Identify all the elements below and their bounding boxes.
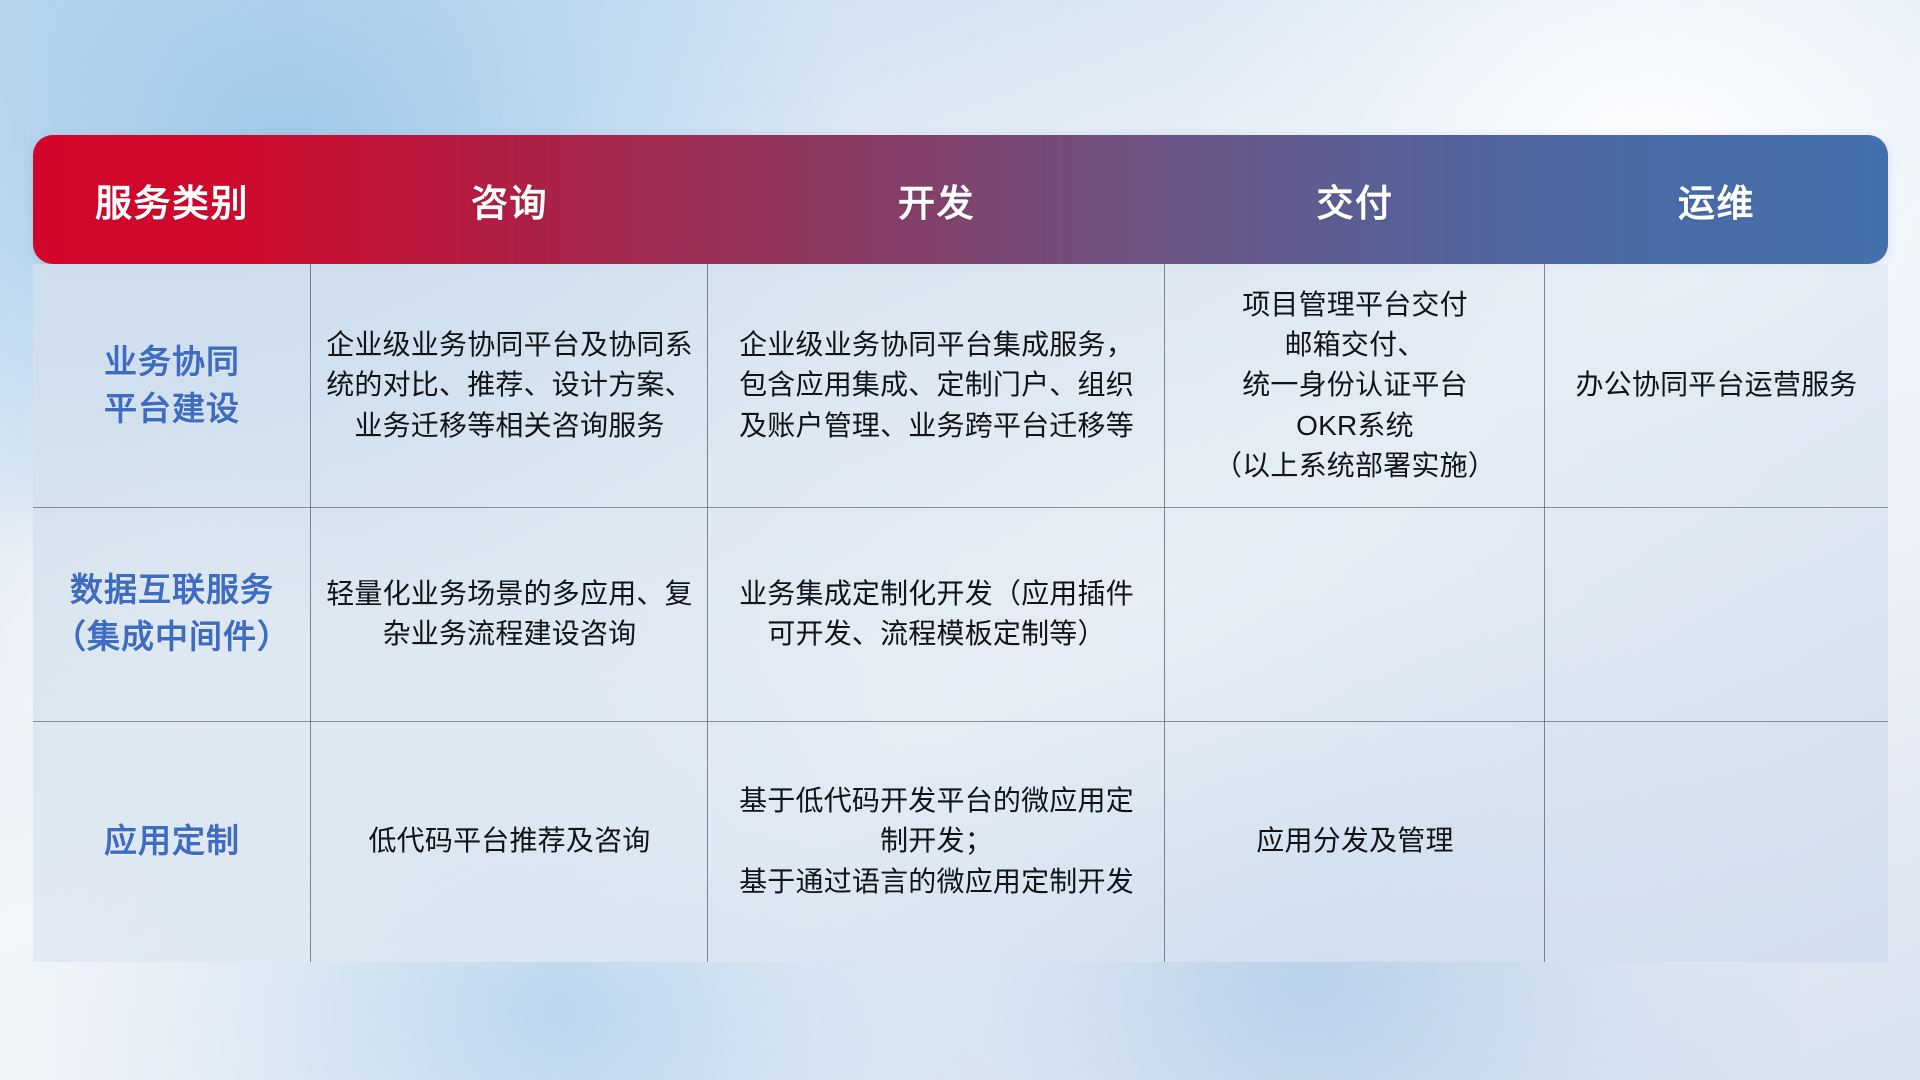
column-header-service-category: 服务类别: [33, 135, 311, 264]
row-category-cell: 数据互联服务 （集成中间件）: [33, 507, 311, 721]
cell-text: 基于低代码开发平台的微应用定 制开发； 基于通过语言的微应用定制开发: [739, 781, 1134, 902]
column-header-delivery: 交付: [1165, 135, 1545, 264]
cell-text: 企业级业务协同平台及协同系 统的对比、推荐、设计方案、 业务迁移等相关咨询服务: [326, 325, 693, 446]
cell-text: 轻量化业务场景的多应用、复 杂业务流程建设咨询: [326, 574, 693, 655]
row-category-cell: 业务协同 平台建设: [33, 264, 311, 507]
cell-operations: [1545, 721, 1888, 962]
cell-development: 基于低代码开发平台的微应用定 制开发； 基于通过语言的微应用定制开发: [708, 721, 1165, 962]
table-row: 数据互联服务 （集成中间件） 轻量化业务场景的多应用、复 杂业务流程建设咨询 业…: [33, 507, 1888, 721]
table-body: 业务协同 平台建设 企业级业务协同平台及协同系 统的对比、推荐、设计方案、 业务…: [33, 264, 1888, 962]
category-label: 应用定制: [104, 818, 240, 865]
column-header-operations: 运维: [1545, 135, 1888, 264]
table-row: 业务协同 平台建设 企业级业务协同平台及协同系 统的对比、推荐、设计方案、 业务…: [33, 264, 1888, 507]
cell-delivery: [1165, 507, 1545, 721]
cell-text: 业务集成定制化开发（应用插件 可开发、流程模板定制等）: [739, 574, 1134, 655]
table-row: 应用定制 低代码平台推荐及咨询 基于低代码开发平台的微应用定 制开发； 基于通过…: [33, 721, 1888, 962]
cell-consulting: 轻量化业务场景的多应用、复 杂业务流程建设咨询: [311, 507, 708, 721]
service-matrix-table: 服务类别 咨询 开发 交付 运维 业务协同 平台建设 企业级业务协同平台及协同系…: [33, 135, 1888, 962]
cell-operations: [1545, 507, 1888, 721]
cell-consulting: 低代码平台推荐及咨询: [311, 721, 708, 962]
cell-text: 项目管理平台交付 邮箱交付、 统一身份认证平台 OKR系统 （以上系统部署实施）: [1214, 285, 1496, 487]
cell-text: 办公协同平台运营服务: [1575, 365, 1857, 405]
cell-delivery: 应用分发及管理: [1165, 721, 1545, 962]
table-header-row: 服务类别 咨询 开发 交付 运维: [33, 135, 1888, 264]
category-label: 数据互联服务 （集成中间件）: [53, 567, 291, 661]
cell-text: 企业级业务协同平台集成服务， 包含应用集成、定制门户、组织 及账户管理、业务跨平…: [739, 325, 1134, 446]
cell-development: 企业级业务协同平台集成服务， 包含应用集成、定制门户、组织 及账户管理、业务跨平…: [708, 264, 1165, 507]
cell-text: 低代码平台推荐及咨询: [368, 821, 650, 861]
cell-operations: 办公协同平台运营服务: [1545, 264, 1888, 507]
cell-delivery: 项目管理平台交付 邮箱交付、 统一身份认证平台 OKR系统 （以上系统部署实施）: [1165, 264, 1545, 507]
category-label: 业务协同 平台建设: [104, 339, 240, 433]
cell-development: 业务集成定制化开发（应用插件 可开发、流程模板定制等）: [708, 507, 1165, 721]
cell-text: 应用分发及管理: [1256, 821, 1453, 861]
row-category-cell: 应用定制: [33, 721, 311, 962]
cell-consulting: 企业级业务协同平台及协同系 统的对比、推荐、设计方案、 业务迁移等相关咨询服务: [311, 264, 708, 507]
column-header-consulting: 咨询: [311, 135, 708, 264]
column-header-development: 开发: [708, 135, 1165, 264]
